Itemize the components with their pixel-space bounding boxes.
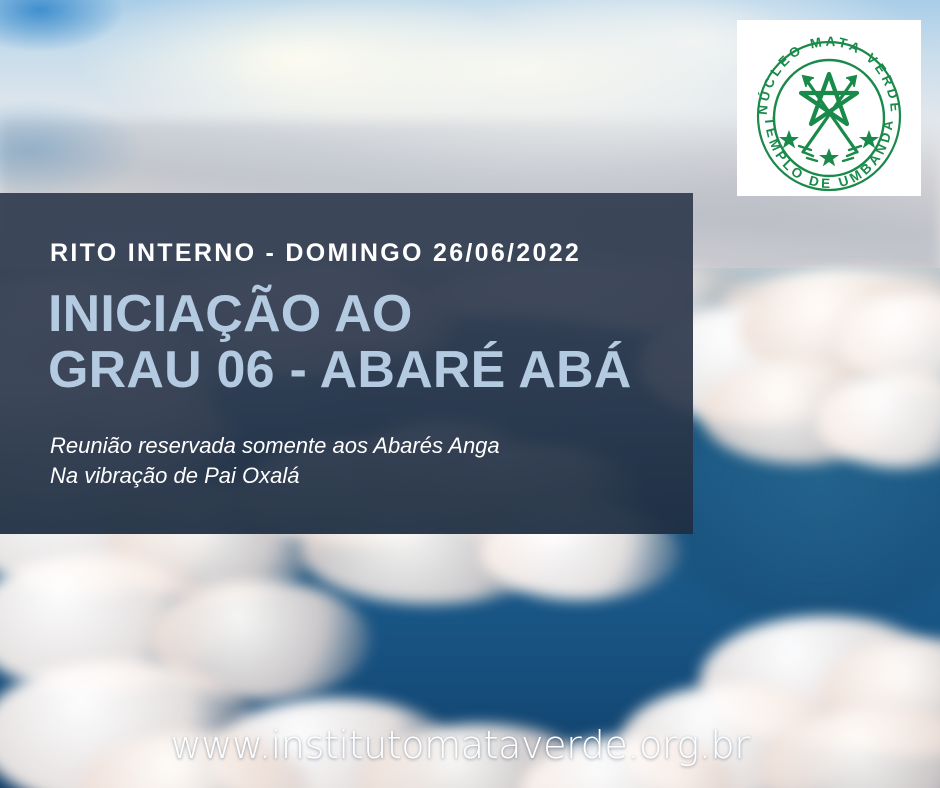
nucleo-mata-verde-seal-icon: NÚCLEO MATA VERDE TEMPLO DE UMBANDA — [737, 20, 921, 196]
event-headline-line-1: INICIAÇÃO AO — [48, 286, 632, 342]
logo-arrows-icon — [799, 76, 861, 161]
event-eyebrow-label: RITO INTERNO - DOMINGO 26/06/2022 — [50, 239, 581, 268]
organization-logo: NÚCLEO MATA VERDE TEMPLO DE UMBANDA — [737, 20, 921, 196]
website-url[interactable]: www.institutomataverde.org.br — [0, 723, 920, 767]
logo-small-star-bottom-icon — [819, 148, 839, 166]
event-subline-line-1: Reunião reservada somente aos Abarés Ang… — [50, 431, 500, 461]
event-subline: Reunião reservada somente aos Abarés Ang… — [50, 431, 500, 491]
event-headline: INICIAÇÃO AO GRAU 06 - ABARÉ ABÁ — [48, 286, 632, 398]
event-subline-line-2: Na vibração de Pai Oxalá — [50, 461, 500, 491]
event-headline-line-2: GRAU 06 - ABARÉ ABÁ — [48, 342, 632, 398]
poster-canvas: RITO INTERNO - DOMINGO 26/06/2022 INICIA… — [0, 0, 940, 788]
